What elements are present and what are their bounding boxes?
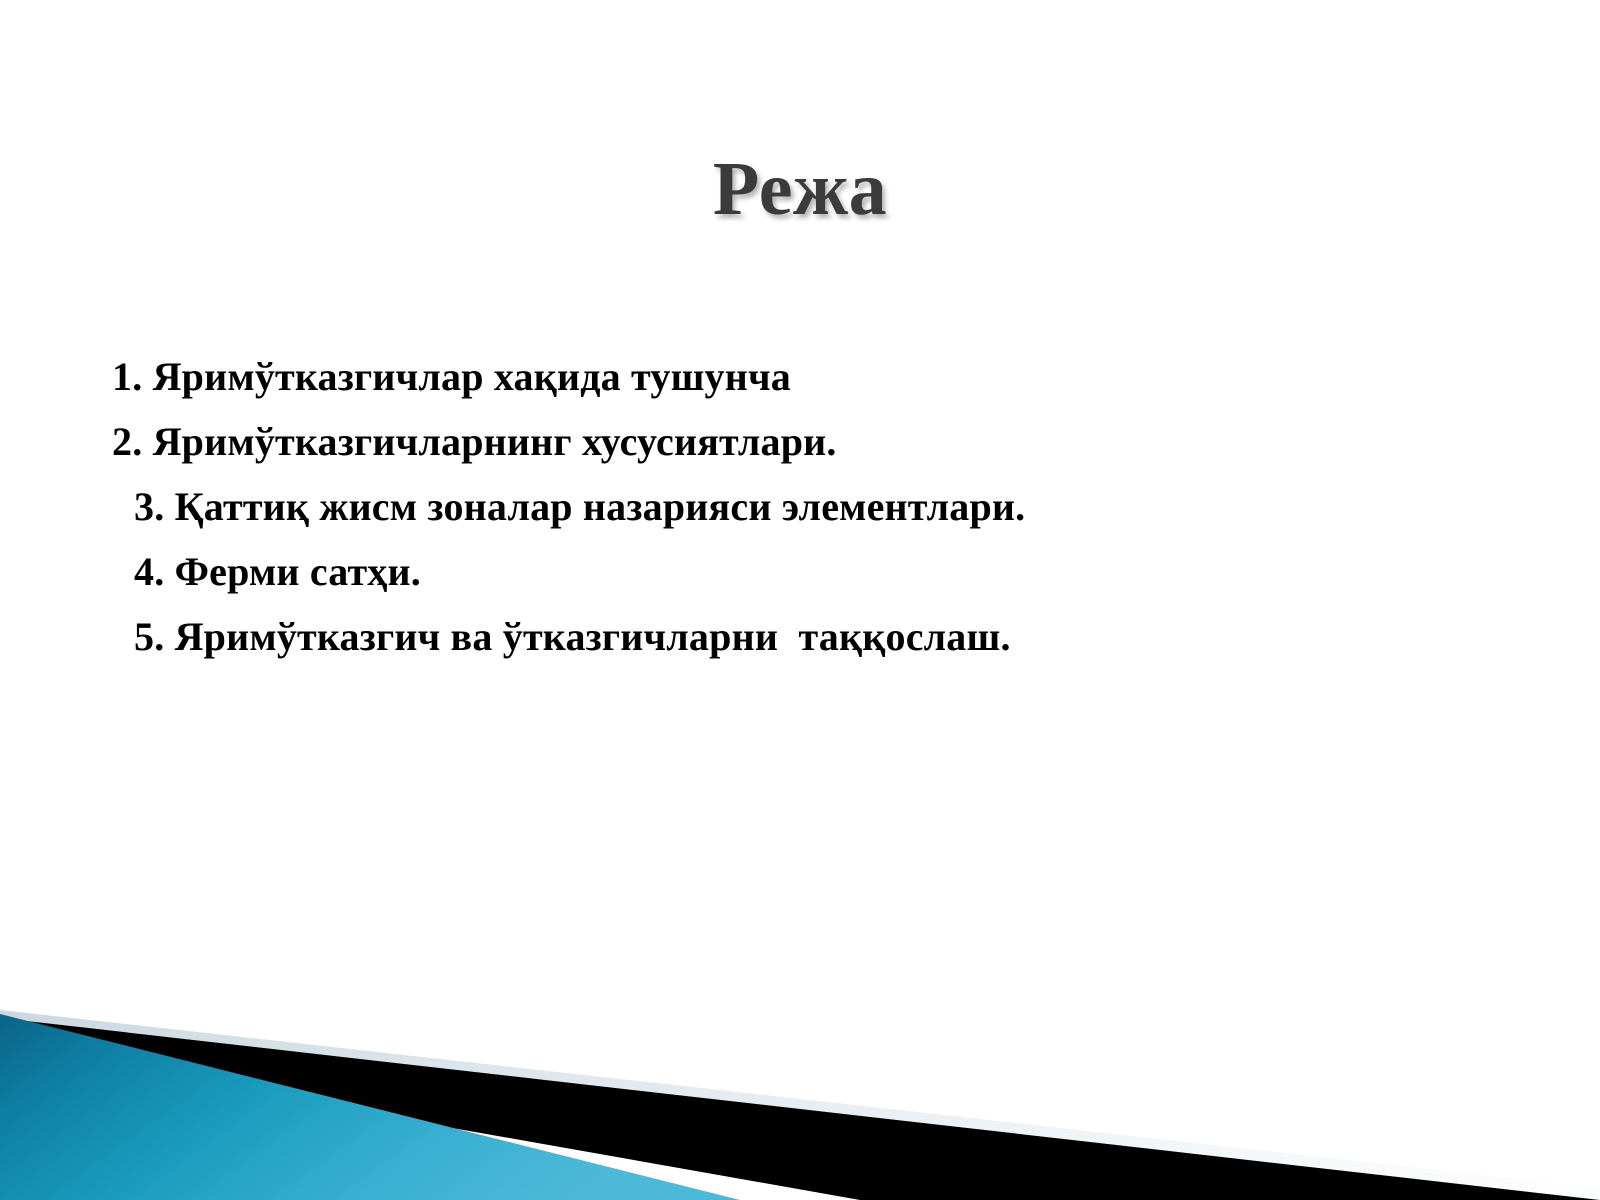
title-container: Режа — [0, 150, 1600, 230]
list-item: 2. Яримўтказгичларнинг хусусиятлари. — [112, 409, 1472, 474]
diagonal-corner-band — [0, 970, 1600, 1200]
outline-list: 1. Яримўтказгичлар хақида тушунча 2. Яри… — [112, 344, 1472, 669]
list-item: 4. Ферми сатҳи. — [112, 539, 1472, 604]
list-item: 1. Яримўтказгичлар хақида тушунча — [112, 344, 1472, 409]
black-diagonal-stripe — [0, 1018, 1600, 1200]
list-item: 3. Қаттиқ жисм зоналар назарияси элемент… — [112, 474, 1472, 539]
slide-canvas: Режа 1. Яримўтказгичлар хақида тушунча 2… — [0, 0, 1600, 1200]
pale-diagonal-sliver — [0, 1010, 1600, 1200]
list-item: 5. Яримўтказгич ва ўтказгичларни таққосл… — [112, 604, 1472, 669]
corner-band-graphic — [0, 970, 1600, 1200]
page-title: Режа — [713, 150, 887, 230]
teal-wedge — [0, 1014, 740, 1200]
